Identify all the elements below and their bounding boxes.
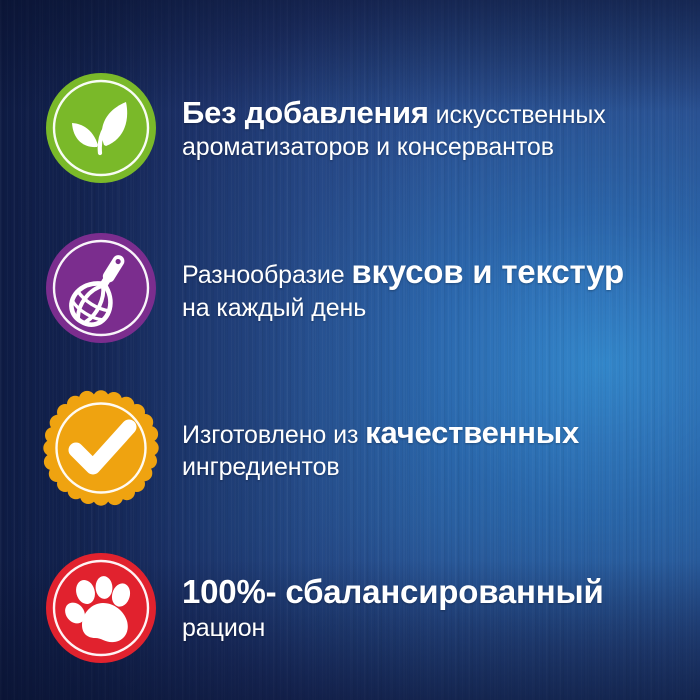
feature-headline-strong: 100%- сбалансированный (182, 573, 604, 610)
paw-print-icon (42, 549, 160, 667)
feature-subline: ингредиентов (182, 453, 579, 482)
feature-subline: рацион (182, 614, 604, 643)
whisk-icon (42, 229, 160, 347)
feature-subline: ароматизаторов и консервантов (182, 133, 606, 162)
feature-text: Без добавления искусственных ароматизато… (182, 95, 606, 162)
feature-headline-rest: искусственных (429, 101, 606, 129)
feature-item-quality: Изготовлено из качественных ингредиентов (0, 368, 700, 528)
product-benefits-banner: Без добавления искусственных ароматизато… (0, 0, 700, 700)
feature-item-variety: Разнообразие вкусов и текстур на каждый … (0, 208, 700, 368)
feature-headline-lead: Разнообразие (182, 261, 351, 289)
checkmark-badge-icon (42, 389, 160, 507)
feature-headline-strong: Без добавления (182, 95, 429, 130)
feature-headline-lead: Изготовлено из (182, 421, 365, 449)
feature-subline: на каждый день (182, 294, 624, 323)
feature-text: 100%- сбалансированный рацион (182, 573, 604, 642)
leaf-icon (42, 69, 160, 187)
feature-item-natural: Без добавления искусственных ароматизато… (0, 48, 700, 208)
feature-text: Изготовлено из качественных ингредиентов (182, 415, 579, 482)
feature-text: Разнообразие вкусов и текстур на каждый … (182, 253, 624, 322)
feature-item-balanced: 100%- сбалансированный рацион (0, 528, 700, 688)
feature-headline-strong: вкусов и текстур (351, 253, 624, 290)
feature-headline-strong: качественных (365, 415, 579, 450)
feature-list: Без добавления искусственных ароматизато… (0, 0, 700, 700)
